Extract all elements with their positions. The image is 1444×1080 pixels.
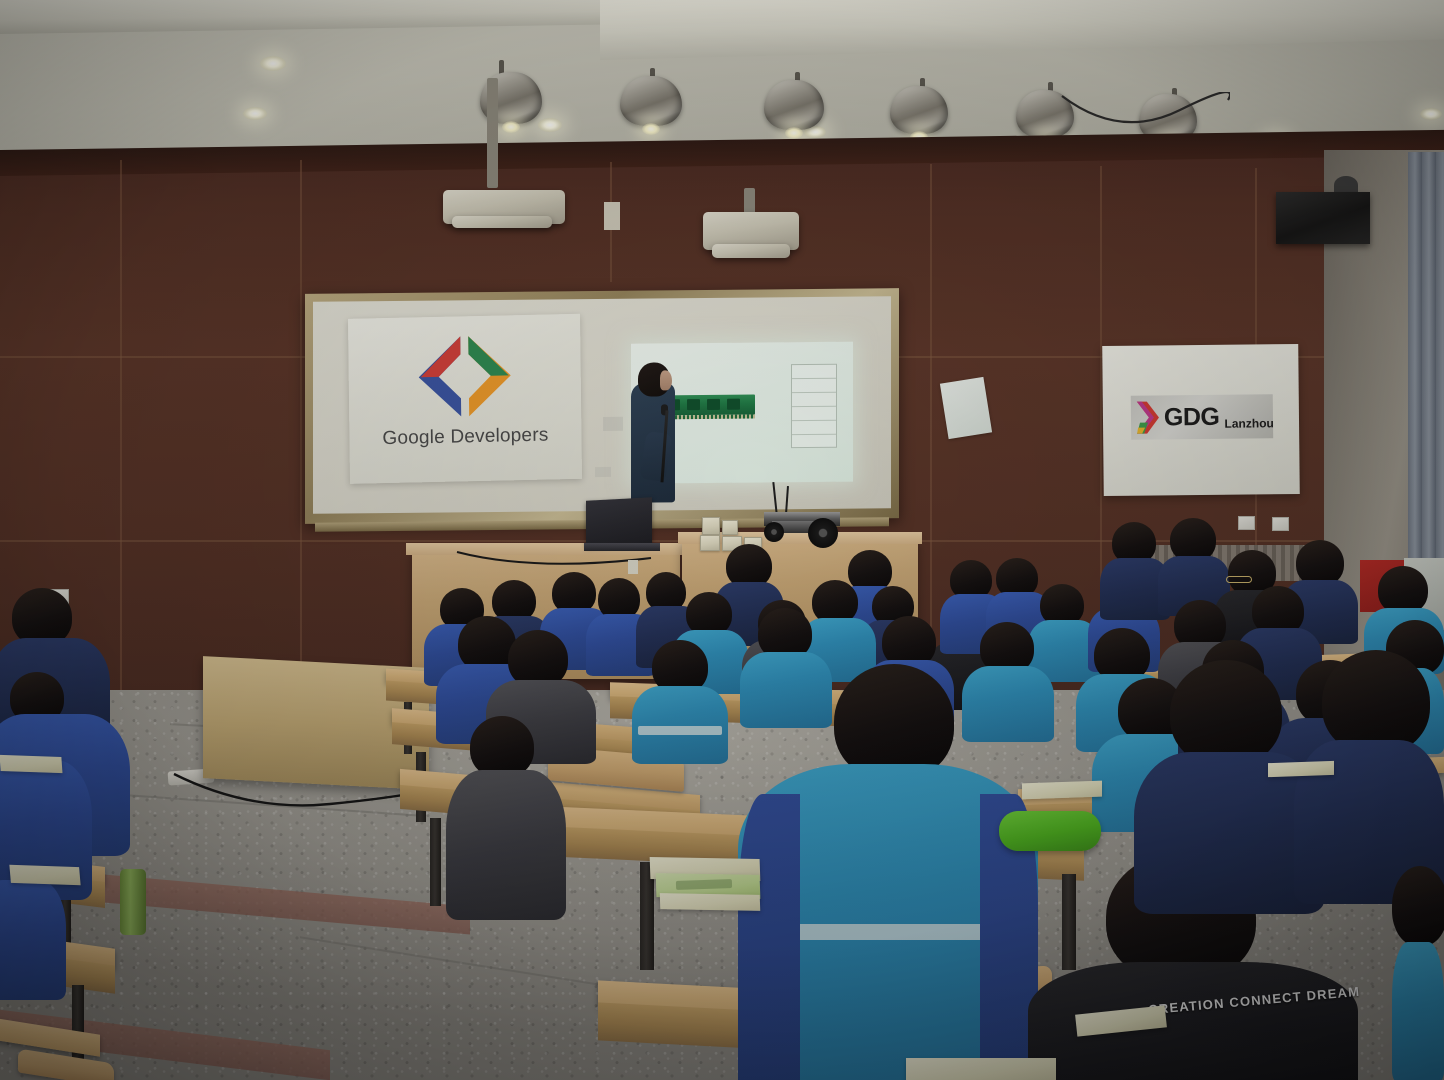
window-curtain xyxy=(1408,152,1444,572)
projector-front-body xyxy=(452,216,552,228)
projector-back-body xyxy=(712,244,790,258)
electronics-module xyxy=(722,520,738,535)
gdg-acronym: GDG xyxy=(1164,404,1220,430)
downlight-icon xyxy=(1420,108,1442,120)
wall-outlet[interactable] xyxy=(1238,516,1255,530)
robot-wheel xyxy=(764,522,784,542)
wall-seam xyxy=(930,164,932,664)
downlight-icon xyxy=(538,118,562,132)
gdg-city-label: Lanzhou xyxy=(1224,416,1273,431)
foreground-student-left xyxy=(446,716,566,916)
google-developers-banner: Google Developers xyxy=(348,314,582,484)
desk-leg xyxy=(430,818,441,906)
paper-sheet xyxy=(1268,761,1334,777)
slide-table-diagram xyxy=(791,364,837,448)
whiteboard: Google Developers xyxy=(305,288,899,524)
projector-mount xyxy=(744,188,755,214)
laptop-screen[interactable] xyxy=(586,497,652,546)
google-developers-chevron-logo xyxy=(416,333,513,419)
spotlight-fixture xyxy=(620,76,682,126)
marker-smudge xyxy=(595,467,611,477)
wall-speaker xyxy=(1276,192,1370,244)
gdg-logo-plate: GDG Lanzhou xyxy=(1131,394,1273,439)
projector-hanger xyxy=(604,202,620,230)
classroom-scene: Google Developers xyxy=(0,0,1444,1080)
paper-sheet xyxy=(1022,781,1102,800)
ceiling-cable xyxy=(1060,92,1230,134)
paper-sheet xyxy=(906,1058,1056,1080)
wall-outlet[interactable] xyxy=(1272,517,1289,531)
eyeglasses-icon xyxy=(1226,576,1252,583)
electronics-module xyxy=(702,517,720,535)
student xyxy=(0,880,66,1000)
paper-sheet xyxy=(0,755,62,773)
projector-mount xyxy=(487,78,498,188)
marker-smudge xyxy=(603,417,623,431)
presenter-face xyxy=(660,370,672,390)
wall-seam xyxy=(120,160,122,700)
notebook-stack xyxy=(660,893,760,911)
banner-text: Google Developers xyxy=(349,424,581,451)
wall-paper-note xyxy=(940,377,992,439)
spotlight-fixture xyxy=(764,80,824,130)
foreground-student-right4 xyxy=(1392,856,1444,1080)
foreground-student-center xyxy=(738,664,1038,1080)
thermos-bottle xyxy=(120,869,146,935)
gdg-arrow-logo xyxy=(1135,400,1161,434)
wall-seam xyxy=(300,160,302,700)
downlight-icon xyxy=(260,56,286,71)
student xyxy=(632,640,728,760)
gdg-lanzhou-banner: GDG Lanzhou xyxy=(1102,344,1300,496)
paper-sheet xyxy=(9,865,80,886)
pencil-case xyxy=(999,811,1101,851)
spotlight-fixture xyxy=(890,86,948,134)
downlight-icon xyxy=(243,107,267,120)
whiteboard-surface: Google Developers xyxy=(313,296,891,514)
uniform-side-panel xyxy=(738,794,800,1080)
robot-wheel xyxy=(808,518,838,548)
